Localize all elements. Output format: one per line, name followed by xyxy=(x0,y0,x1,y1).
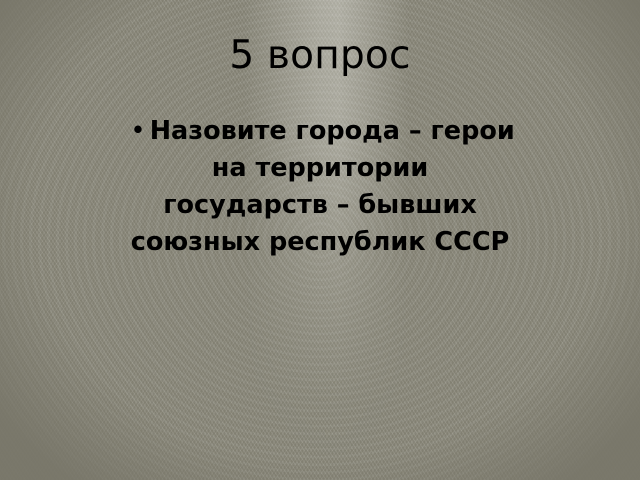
bullet-list-item-line-4: союзных республик СССР xyxy=(18,224,622,261)
slide-content: 5 вопрос •Назовите города – герои на тер… xyxy=(0,0,640,480)
slide-body-list: •Назовите города – герои на территории г… xyxy=(18,112,622,261)
bullet-list-item: •Назовите города – герои xyxy=(18,112,622,150)
bullet-list-item-label: Назовите города – герои xyxy=(150,116,515,146)
bullet-list-item-line-2: на территории xyxy=(18,150,622,187)
bullet-list-item-line-3: государств – бывших xyxy=(18,187,622,224)
slide-title: 5 вопрос xyxy=(0,36,640,77)
bullet-point-icon: • xyxy=(131,118,149,142)
presentation-slide: 5 вопрос •Назовите города – герои на тер… xyxy=(0,0,640,480)
